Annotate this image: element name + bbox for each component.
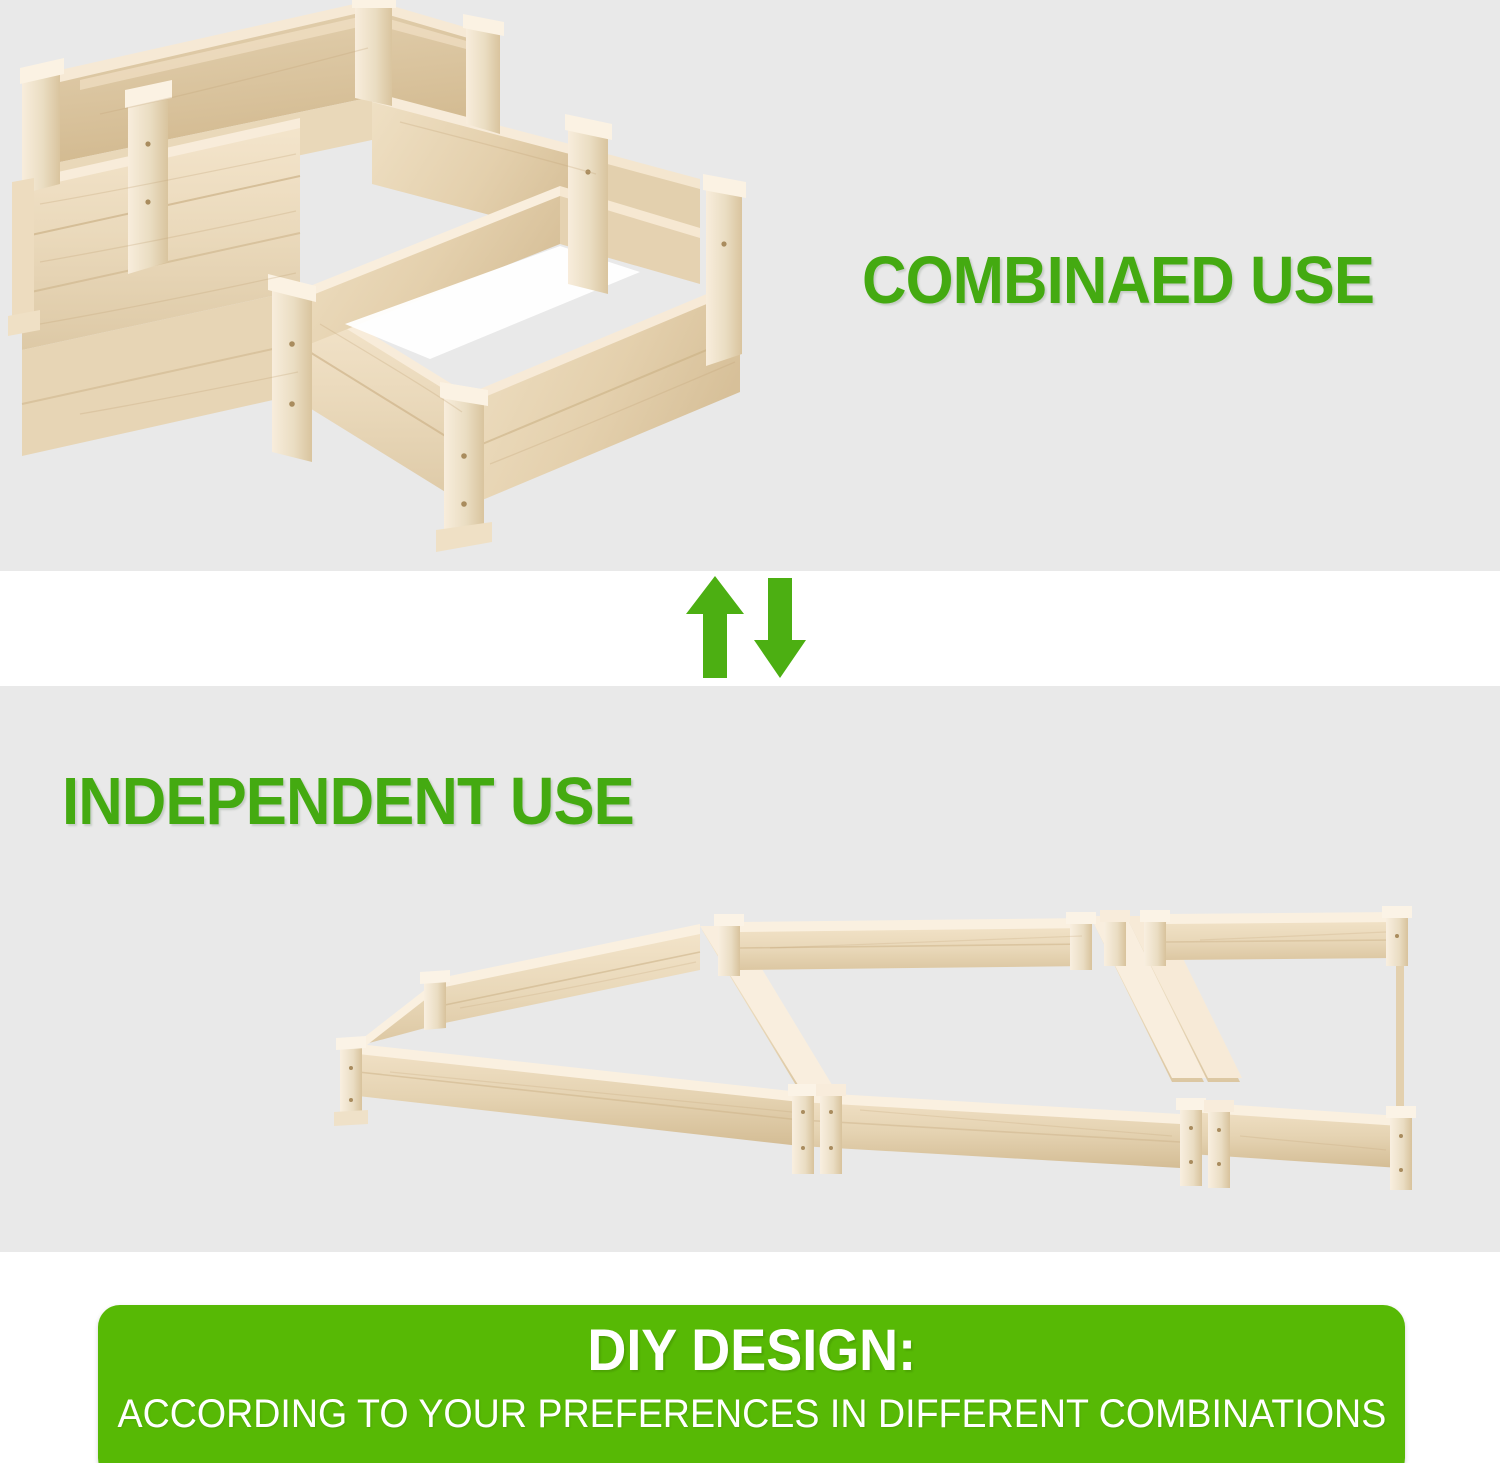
post [714,914,744,976]
panel-combined-use: COMBINAED USE [0,0,1500,571]
post [268,274,316,462]
post [1100,910,1130,966]
post [565,114,612,294]
diy-banner-title: DIY DESIGN: [587,1321,916,1382]
post [436,382,492,552]
post [1066,912,1096,970]
post [816,1084,846,1174]
post [788,1084,818,1174]
diy-banner-subtitle: ACCORDING TO YOUR PREFERENCES IN DIFFERE… [117,1392,1386,1437]
diy-design-banner: DIY DESIGN: ACCORDING TO YOUR PREFERENCE… [98,1305,1405,1463]
post [420,970,450,1030]
post [1382,906,1412,966]
post [20,58,64,194]
post [1204,1100,1234,1188]
infographic-root: COMBINAED USE INDEPENDENT USE [0,0,1500,1463]
flat-garden-bed-image [300,896,1460,1216]
post [463,14,504,134]
post [1140,910,1170,966]
tiered-garden-bed-image [0,0,800,571]
arrow-down-icon [754,578,806,678]
post [703,174,746,366]
heading-independent-use: INDEPENDENT USE [62,768,634,835]
post [1386,1106,1416,1190]
post [352,0,396,106]
arrow-up-icon [686,576,744,678]
post [1176,1098,1206,1186]
panel-independent-use: INDEPENDENT USE [0,686,1500,1252]
arrow-pair [686,576,816,680]
heading-combined-use: COMBINAED USE [862,247,1374,314]
